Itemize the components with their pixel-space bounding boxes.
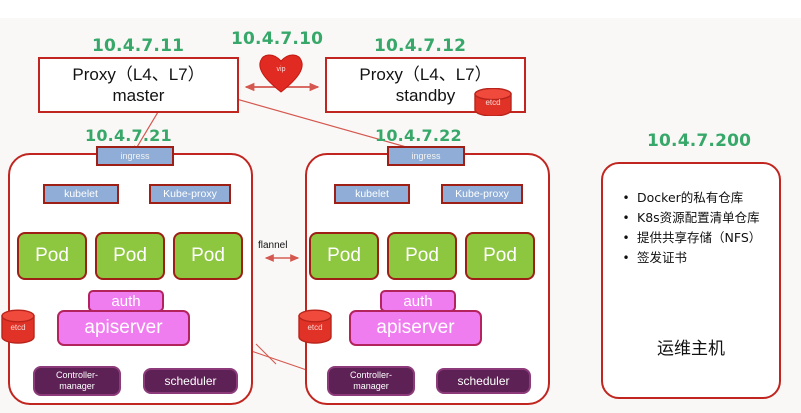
ip-label-ops-host: 10.4.7.200 (647, 131, 751, 151)
scheduler-right[interactable]: scheduler (436, 368, 531, 394)
flannel-link-label: flannel (258, 240, 287, 251)
etcd-label-cluster-right: etcd (297, 309, 333, 345)
bullet-marker-icon: • (615, 228, 637, 248)
pod-left-2[interactable]: Pod (95, 232, 165, 280)
scheduler-left-label: scheduler (164, 374, 216, 388)
etcd-label-standby: etcd (473, 88, 513, 116)
pod-left-2-label: Pod (113, 245, 147, 267)
kubelet-left[interactable]: kubelet (43, 184, 119, 204)
ip-label-proxy-standby: 10.4.7.12 (374, 36, 466, 56)
ops-host-box[interactable]: • Docker的私有仓库 • K8s资源配置清单仓库 • 提供共享存储（NFS… (601, 162, 781, 399)
controller-manager-right[interactable]: Controller- manager (327, 366, 415, 396)
scheduler-right-label: scheduler (457, 374, 509, 388)
kube-proxy-right[interactable]: Kube-proxy (441, 184, 523, 204)
list-item: • 提供共享存储（NFS） (615, 228, 761, 248)
proxy-master-line1: Proxy（L4、L7） (40, 65, 237, 85)
ingress-left-label: ingress (120, 151, 149, 161)
pod-right-2[interactable]: Pod (387, 232, 457, 280)
etcd-icon-cluster-right: etcd (297, 309, 333, 345)
apiserver-right-label: apiserver (376, 317, 454, 339)
list-item: • Docker的私有仓库 (615, 188, 761, 208)
controller-manager-left[interactable]: Controller- manager (33, 366, 121, 396)
ingress-right[interactable]: ingress (387, 146, 465, 166)
etcd-icon-standby: etcd (473, 88, 513, 116)
etcd-label-cluster-left: etcd (0, 309, 36, 345)
ops-host-bullet-3: 提供共享存储（NFS） (637, 228, 761, 248)
proxy-standby-line1: Proxy（L4、L7） (327, 65, 524, 85)
pod-left-3-label: Pod (191, 245, 225, 267)
pod-right-1-label: Pod (327, 245, 361, 267)
bullet-marker-icon: • (615, 248, 637, 268)
ops-host-bullet-list: • Docker的私有仓库 • K8s资源配置清单仓库 • 提供共享存储（NFS… (615, 188, 761, 268)
kubelet-right[interactable]: kubelet (334, 184, 410, 204)
apiserver-left[interactable]: apiserver (57, 310, 190, 346)
ingress-left[interactable]: ingress (96, 146, 174, 166)
kube-proxy-left[interactable]: Kube-proxy (149, 184, 231, 204)
pod-left-1[interactable]: Pod (17, 232, 87, 280)
pod-left-1-label: Pod (35, 245, 69, 267)
controller-manager-right-line2: manager (353, 381, 389, 392)
pod-right-2-label: Pod (405, 245, 439, 267)
bullet-marker-icon: • (615, 188, 637, 208)
auth-left[interactable]: auth (88, 290, 164, 312)
vip-heart-icon: vip (258, 51, 304, 93)
ip-label-cluster-right: 10.4.7.22 (375, 126, 462, 145)
controller-manager-left-line1: Controller- (56, 370, 98, 381)
kubelet-right-label: kubelet (355, 188, 389, 200)
proxy-master-line2: master (40, 85, 237, 106)
pod-right-1[interactable]: Pod (309, 232, 379, 280)
etcd-icon-cluster-left: etcd (0, 309, 36, 345)
list-item: • 签发证书 (615, 248, 761, 268)
vip-label: vip (258, 51, 304, 93)
ops-host-bullet-1: Docker的私有仓库 (637, 188, 743, 208)
ip-label-vip: 10.4.7.10 (231, 29, 323, 49)
ip-label-cluster-left: 10.4.7.21 (85, 126, 172, 145)
ops-host-label: 运维主机 (603, 334, 779, 359)
list-item: • K8s资源配置清单仓库 (615, 208, 761, 228)
auth-right[interactable]: auth (380, 290, 456, 312)
kube-proxy-left-label: Kube-proxy (163, 188, 217, 200)
pod-right-3[interactable]: Pod (465, 232, 535, 280)
pod-right-3-label: Pod (483, 245, 517, 267)
ip-label-proxy-master: 10.4.7.11 (92, 36, 184, 56)
diagram-canvas: 10.4.7.11 10.4.7.10 10.4.7.12 10.4.7.21 … (0, 0, 801, 413)
controller-manager-left-line2: manager (59, 381, 95, 392)
kube-proxy-right-label: Kube-proxy (455, 188, 509, 200)
kubelet-left-label: kubelet (64, 188, 98, 200)
proxy-master-box[interactable]: Proxy（L4、L7） master (38, 57, 239, 113)
apiserver-right[interactable]: apiserver (349, 310, 482, 346)
scheduler-left[interactable]: scheduler (143, 368, 238, 394)
ops-host-bullet-4: 签发证书 (637, 248, 687, 268)
ops-host-bullet-2: K8s资源配置清单仓库 (637, 208, 760, 228)
ingress-right-label: ingress (411, 151, 440, 161)
pod-left-3[interactable]: Pod (173, 232, 243, 280)
apiserver-left-label: apiserver (84, 317, 162, 339)
bullet-marker-icon: • (615, 208, 637, 228)
auth-left-label: auth (111, 293, 140, 310)
controller-manager-right-line1: Controller- (350, 370, 392, 381)
auth-right-label: auth (403, 293, 432, 310)
